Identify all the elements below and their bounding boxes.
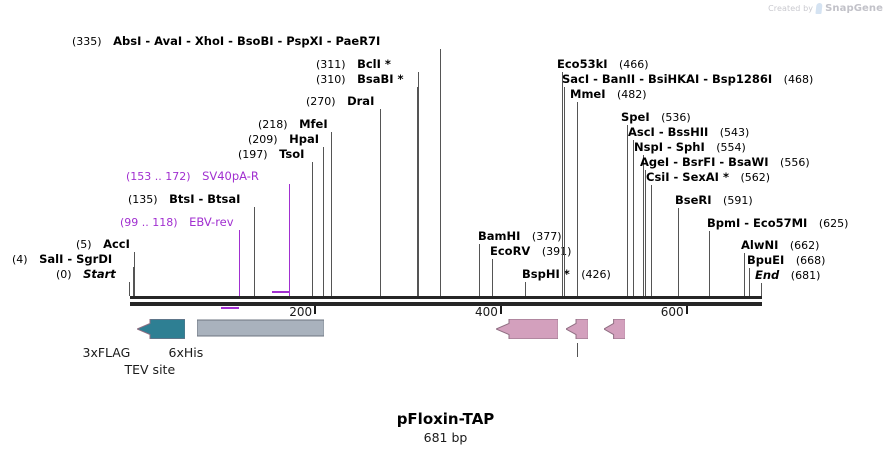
label-name: AlwNI	[741, 238, 778, 252]
leader-line-spei	[627, 125, 628, 296]
feature-label-3xflag: 3xFLAG	[83, 345, 131, 360]
label-name: HpaI	[289, 132, 319, 146]
primer-bar-ebv-rev-bar	[221, 307, 239, 309]
label-bpuei: BpuEI (668)	[747, 254, 825, 267]
label-position: (556)	[780, 156, 810, 169]
leader-line-start	[129, 282, 130, 296]
feature-shape-frt	[137, 319, 185, 339]
label-saci-group: SacI - BanII - BsiHKAI - Bsp1286I (468)	[562, 73, 813, 86]
label-absi-group: (335) AbsI - AvaI - XhoI - BsoBI - PspXI…	[72, 35, 380, 48]
label-name: AgeI - BsrFI - BsaWI	[640, 155, 769, 169]
leader-line-bpuei	[749, 268, 750, 296]
feature-label-6xhis: 6xHis	[169, 345, 204, 360]
label-position: (99 .. 118)	[120, 216, 178, 229]
leader-line-bsabi	[417, 87, 418, 296]
page-title: pFloxin-TAP	[0, 410, 891, 428]
label-name: Eco53kI	[557, 57, 608, 71]
label-position: (662)	[790, 239, 820, 252]
label-position: (482)	[617, 88, 647, 101]
label-agei: AgeI - BsrFI - BsaWI (556)	[640, 156, 810, 169]
leader-line-saci-group	[564, 87, 565, 296]
leader-line-sv40pa-r	[289, 184, 291, 296]
label-name: MfeI	[299, 117, 328, 131]
label-sv40pa-r: (153 .. 172) SV40pA-R	[126, 170, 259, 183]
leader-line-eco53ki	[562, 72, 563, 296]
label-position: (466)	[619, 58, 649, 71]
label-end: End (681)	[755, 269, 820, 282]
ruler-tick	[500, 306, 502, 314]
label-name: EBV-rev	[189, 215, 234, 229]
feature-sv40[interactable]	[197, 319, 324, 339]
label-position: (335)	[72, 35, 102, 48]
label-mfei: (218) MfeI	[258, 118, 328, 131]
feature-frt[interactable]	[137, 319, 185, 339]
label-name: MmeI	[570, 87, 606, 101]
label-alwni: AlwNI (662)	[741, 239, 819, 252]
label-name: EcoRV	[490, 244, 530, 258]
label-position: (310)	[316, 73, 346, 86]
label-name: TsoI	[279, 147, 304, 161]
backbone-top-line	[130, 296, 762, 299]
label-position: (562)	[740, 171, 770, 184]
label-position: (536)	[661, 111, 691, 124]
leader-line-bamhi	[479, 244, 480, 296]
label-position: (5)	[76, 238, 92, 251]
label-ebv-rev: (99 .. 118) EBV-rev	[120, 216, 234, 229]
label-name: AscI - BssHII	[628, 125, 708, 139]
ruler-tick	[314, 306, 316, 314]
label-position: (0)	[56, 268, 72, 281]
leader-line-nspi	[643, 155, 644, 296]
label-bpmi: BpmI - Eco57MI (625)	[707, 217, 848, 230]
label-position: (153 .. 172)	[126, 170, 191, 183]
label-bamhi: BamHI (377)	[478, 230, 562, 243]
ruler-tick	[686, 306, 688, 314]
label-name: AccI	[103, 237, 130, 251]
label-position: (543)	[720, 126, 750, 139]
label-position: (681)	[791, 269, 821, 282]
leader-line-agei	[645, 170, 646, 296]
label-name: SpeI	[621, 110, 650, 124]
leader-line-bsphi	[525, 282, 526, 296]
label-name: SV40pA-R	[202, 169, 259, 183]
label-csii: CsiI - SexAI * (562)	[646, 171, 770, 184]
label-name: BseRI	[675, 193, 712, 207]
label-name: CsiI - SexAI *	[646, 170, 729, 184]
label-name: AbsI - AvaI - XhoI - BsoBI - PspXI - Pae…	[113, 34, 380, 48]
label-eco53ki: Eco53kI (466)	[557, 58, 649, 71]
feature-label-tev: TEV site	[125, 362, 176, 377]
label-name: BpmI - Eco57MI	[707, 216, 807, 230]
leader-line-ecorv	[492, 259, 493, 296]
label-position: (311)	[316, 58, 346, 71]
ruler-tick-label: 200	[285, 305, 312, 319]
primer-bar-sv40pa-r-bar	[272, 291, 290, 293]
label-position: (209)	[248, 133, 278, 146]
leader-line-hpai	[323, 147, 324, 296]
label-tsoi: (197) TsoI	[238, 148, 304, 161]
label-position: (377)	[532, 230, 562, 243]
label-position: (591)	[723, 194, 753, 207]
label-nspi: NspI - SphI (554)	[634, 141, 746, 154]
label-spei: SpeI (536)	[621, 111, 691, 124]
feature-shape-6xhis	[604, 319, 625, 339]
label-position: (218)	[258, 118, 288, 131]
label-position: (270)	[306, 95, 336, 108]
leader-line-tsoi	[312, 162, 313, 296]
label-position: (668)	[796, 254, 826, 267]
tev-site-connector	[577, 343, 578, 357]
label-name: BpuEI	[747, 253, 784, 267]
leader-line-acci	[134, 252, 135, 296]
leader-line-bpmi	[709, 231, 710, 296]
label-start: (0) Start	[56, 268, 116, 281]
plasmid-linear-map: 200400600(335) AbsI - AvaI - XhoI - BsoB…	[0, 0, 891, 449]
label-bsphi: BspHI * (426)	[522, 268, 611, 281]
leader-line-sali	[133, 267, 134, 296]
label-position: (426)	[581, 268, 611, 281]
label-name: BsaBI *	[357, 72, 403, 86]
label-position: (625)	[819, 217, 849, 230]
label-ecorv: EcoRV (391)	[490, 245, 571, 258]
label-name: BtsI - BtsaI	[169, 192, 240, 206]
label-position: (4)	[12, 253, 28, 266]
feature-shape-3xflag	[496, 319, 558, 339]
label-acci: (5) AccI	[76, 238, 130, 251]
leader-line-mmei	[577, 102, 578, 296]
ruler-tick-label: 400	[471, 305, 498, 319]
label-name: DraI	[347, 94, 374, 108]
label-hpai: (209) HpaI	[248, 133, 319, 146]
leader-line-absi-group	[440, 49, 441, 296]
label-name: BamHI	[478, 229, 520, 243]
leader-line-asci	[633, 140, 634, 296]
label-btsi: (135) BtsI - BtsaI	[128, 193, 240, 206]
feature-shape-sv40	[197, 319, 324, 339]
label-name: BclI *	[357, 57, 391, 71]
label-position: (468)	[784, 73, 814, 86]
leader-line-end	[761, 283, 762, 296]
label-position: (197)	[238, 148, 268, 161]
leader-line-drai	[380, 109, 381, 296]
leader-line-ebv-rev	[239, 230, 241, 296]
label-mmei: MmeI (482)	[570, 88, 647, 101]
label-position: (391)	[542, 245, 572, 258]
label-sali: (4) SalI - SgrDI	[12, 253, 112, 266]
leader-line-mfei	[331, 132, 332, 296]
label-name: Start	[83, 267, 116, 281]
label-name: SacI - BanII - BsiHKAI - Bsp1286I	[562, 72, 772, 86]
feature-6xhis[interactable]	[604, 319, 625, 339]
label-asci: AscI - BssHII (543)	[628, 126, 749, 139]
leader-line-btsi	[254, 207, 255, 296]
ruler-tick-label: 600	[657, 305, 684, 319]
label-position: (554)	[716, 141, 746, 154]
label-name: End	[755, 268, 779, 282]
label-bsabi: (310) BsaBI *	[316, 73, 404, 86]
feature-shape-tev	[566, 319, 588, 339]
leader-line-bcli	[418, 72, 419, 296]
label-name: NspI - SphI	[634, 140, 705, 154]
feature-3xflag[interactable]	[496, 319, 558, 339]
leader-line-alwni	[744, 253, 745, 296]
feature-tev[interactable]	[566, 319, 588, 339]
label-position: (135)	[128, 193, 158, 206]
label-bcli: (311) BclI *	[316, 58, 391, 71]
label-bseri: BseRI (591)	[675, 194, 753, 207]
label-name: SalI - SgrDI	[39, 252, 112, 266]
leader-line-csii	[651, 185, 652, 296]
label-drai: (270) DraI	[306, 95, 374, 108]
plasmid-length: 681 bp	[0, 430, 891, 445]
leader-line-bseri	[678, 208, 679, 296]
